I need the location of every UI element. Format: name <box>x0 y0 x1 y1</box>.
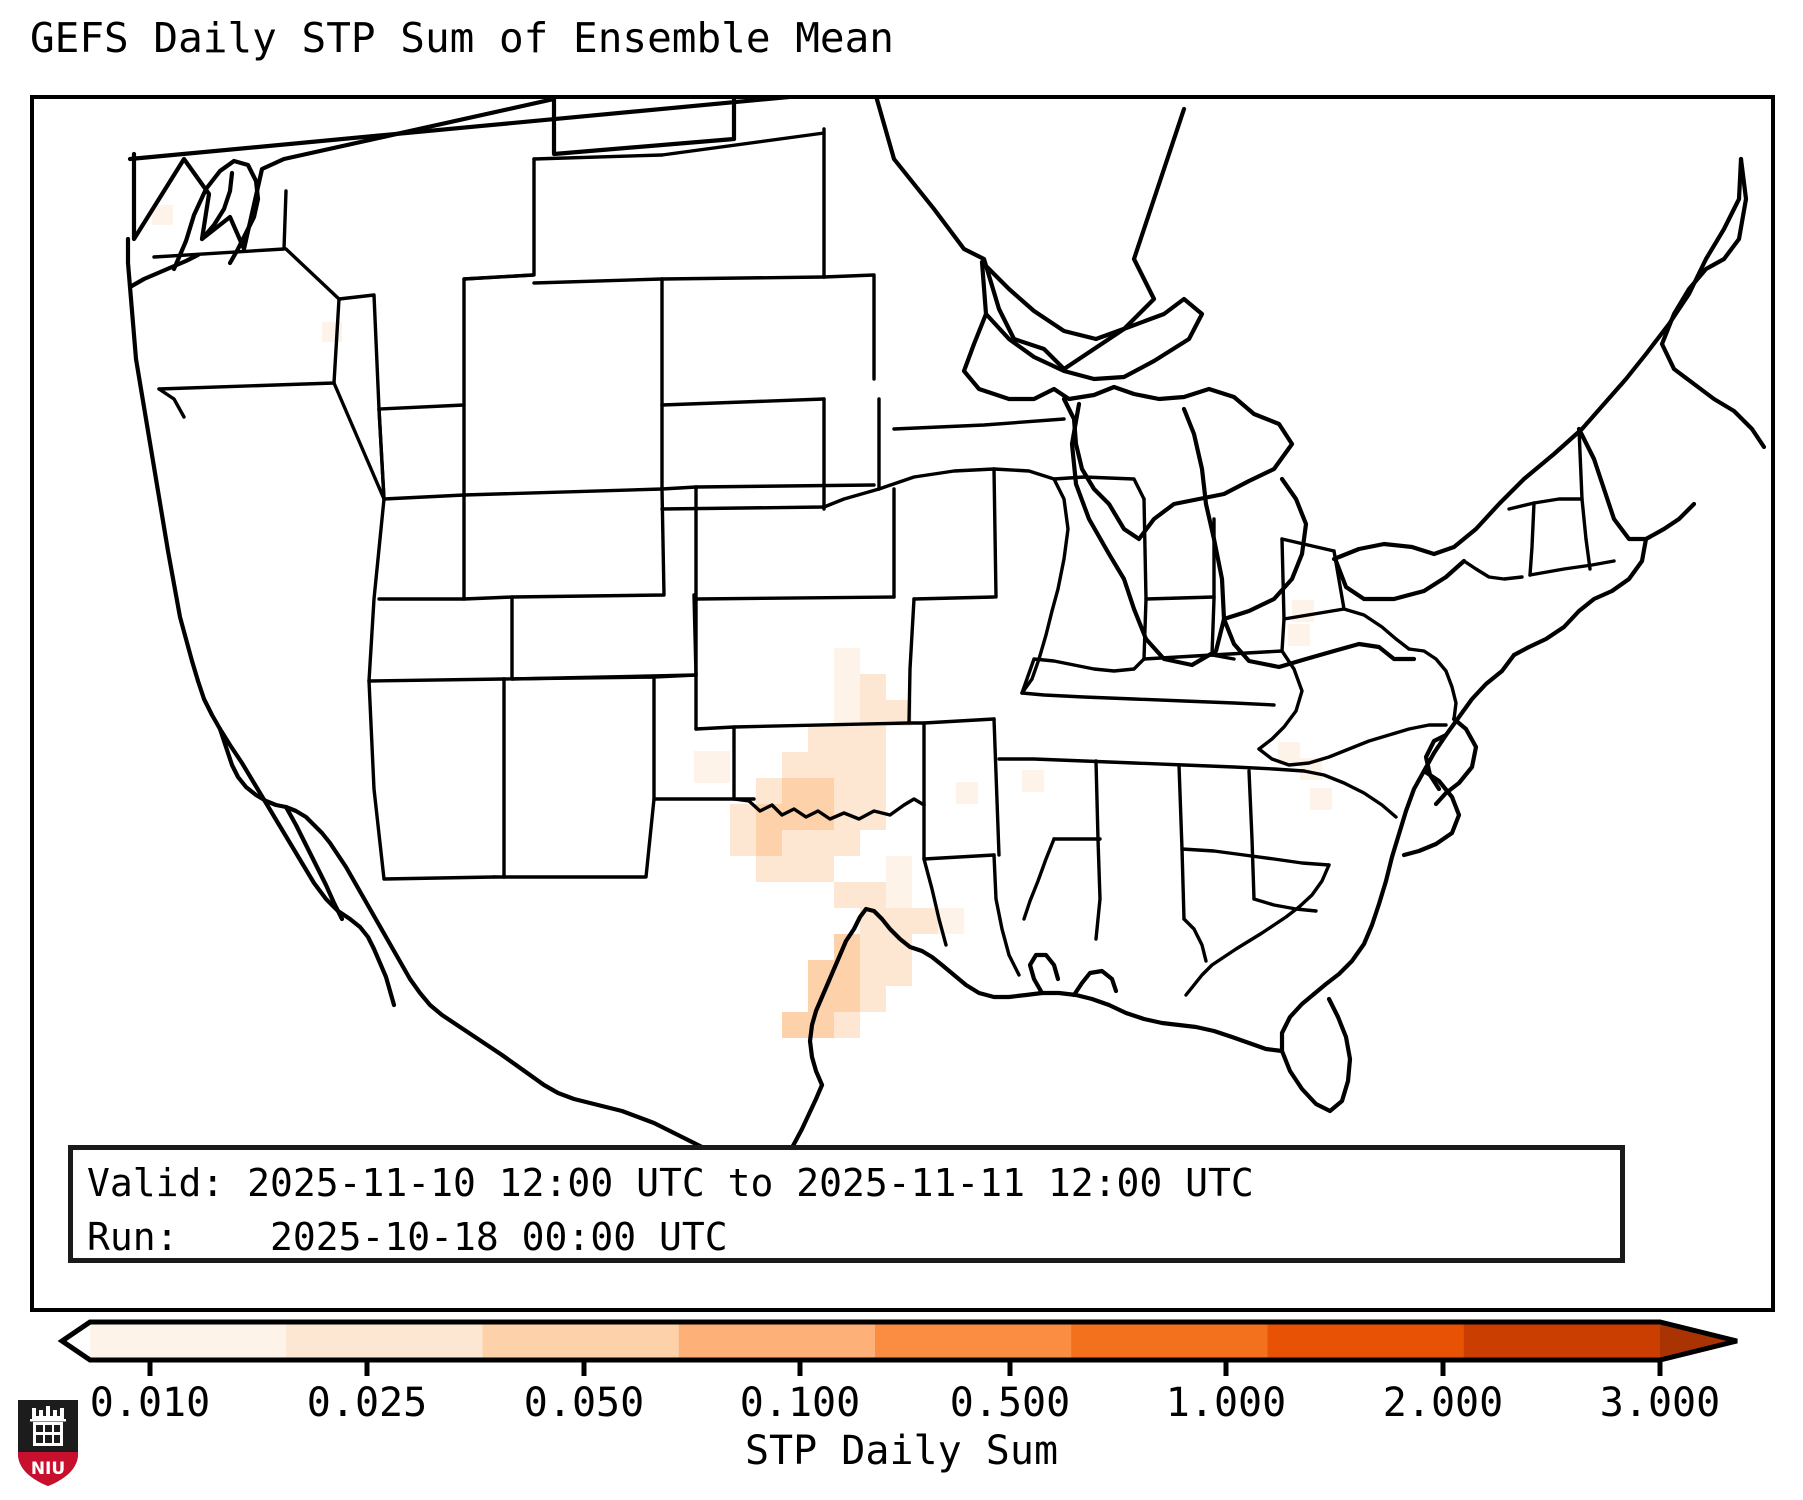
stp-grid-cell <box>834 674 860 700</box>
colorbar-band <box>1071 1322 1268 1360</box>
colorbar-band <box>875 1322 1072 1360</box>
stp-grid-cell <box>1310 788 1332 810</box>
stp-grid-cell <box>860 960 886 986</box>
colorbar-tick-label: 0.050 <box>524 1380 644 1426</box>
colorbar-band <box>1464 1322 1661 1360</box>
stp-grid-cell <box>834 778 860 804</box>
colorbar-tick-label: 0.010 <box>90 1380 210 1426</box>
stp-grid-cell <box>834 700 860 726</box>
stp-grid-cell <box>886 856 912 882</box>
stp-grid-cell <box>782 830 808 856</box>
colorbar-tick-label: 0.500 <box>950 1380 1070 1426</box>
run-time-line: Run: 2025-10-18 00:00 UTC <box>87 1210 1606 1264</box>
colorbar-svg <box>0 1316 1803 1376</box>
stp-grid-cell <box>782 856 808 882</box>
stp-grid-cell <box>808 804 834 830</box>
stp-grid-cell <box>860 726 886 752</box>
map-panel <box>30 95 1775 1312</box>
colorbar <box>0 1316 1803 1376</box>
stp-grid-cell <box>834 882 860 908</box>
stp-grid-cell <box>756 856 782 882</box>
stp-grid-cell <box>808 856 834 882</box>
colorbar-tick-label: 1.000 <box>1166 1380 1286 1426</box>
niu-logo-text: NIU <box>31 1459 65 1479</box>
stp-grid-cell <box>782 1012 808 1038</box>
stp-grid-cell <box>886 960 912 986</box>
stp-grid-cell <box>956 782 978 804</box>
colorbar-band <box>679 1322 876 1360</box>
us-map-svg <box>34 99 1771 1308</box>
stp-grid-cell <box>860 752 886 778</box>
stp-grid-cell <box>912 908 938 934</box>
stp-grid-cell <box>808 830 834 856</box>
stp-grid-cell <box>834 752 860 778</box>
colorbar-band <box>483 1322 680 1360</box>
stp-grid-cell <box>1022 770 1044 792</box>
colorbar-bands <box>62 1322 1737 1360</box>
stp-grid-cell <box>834 1012 860 1038</box>
colorbar-tick-label: 3.000 <box>1600 1380 1720 1426</box>
stp-grid-cell <box>730 830 756 856</box>
forecast-info-box: Valid: 2025-11-10 12:00 UTC to 2025-11-1… <box>68 1145 1625 1263</box>
niu-logo: NIU <box>16 1398 80 1488</box>
valid-time-line: Valid: 2025-11-10 12:00 UTC to 2025-11-1… <box>87 1156 1606 1210</box>
stp-grid-cell <box>834 830 860 856</box>
colorbar-tick-label: 0.100 <box>740 1380 860 1426</box>
stp-grid-cell <box>782 752 808 778</box>
stp-data-grid <box>152 205 1332 1038</box>
colorbar-tick-label: 0.025 <box>307 1380 427 1426</box>
stp-grid-cell <box>834 726 860 752</box>
stp-grid-cell <box>756 830 782 856</box>
stp-grid-cell <box>834 986 860 1012</box>
stp-grid-cell <box>860 674 886 700</box>
map-outlines <box>128 99 1764 1171</box>
colorbar-band <box>90 1322 287 1360</box>
stp-grid-cell <box>782 778 808 804</box>
stp-grid-cell <box>860 778 886 804</box>
colorbar-over-arrow <box>1660 1322 1737 1360</box>
stp-grid-cell <box>730 804 756 830</box>
colorbar-axis-label: STP Daily Sum <box>0 1428 1803 1474</box>
colorbar-tick-labels: 0.0100.0250.0500.1000.5001.0002.0003.000 <box>0 1380 1803 1430</box>
stp-grid-cell <box>756 778 782 804</box>
stp-grid-cell <box>808 778 834 804</box>
colorbar-band <box>1268 1322 1465 1360</box>
colorbar-tick-label: 2.000 <box>1383 1380 1503 1426</box>
stp-grid-cell <box>834 648 860 674</box>
stp-grid-cell <box>694 751 730 783</box>
stp-grid-cell <box>808 726 834 752</box>
page-title: GEFS Daily STP Sum of Ensemble Mean <box>30 14 894 62</box>
stp-grid-cell <box>886 882 912 908</box>
stp-grid-cell <box>860 934 886 960</box>
stp-grid-cell <box>808 752 834 778</box>
stp-grid-cell <box>1288 624 1310 646</box>
stp-grid-cell <box>860 882 886 908</box>
stp-grid-cell <box>860 986 886 1012</box>
colorbar-band <box>286 1322 483 1360</box>
